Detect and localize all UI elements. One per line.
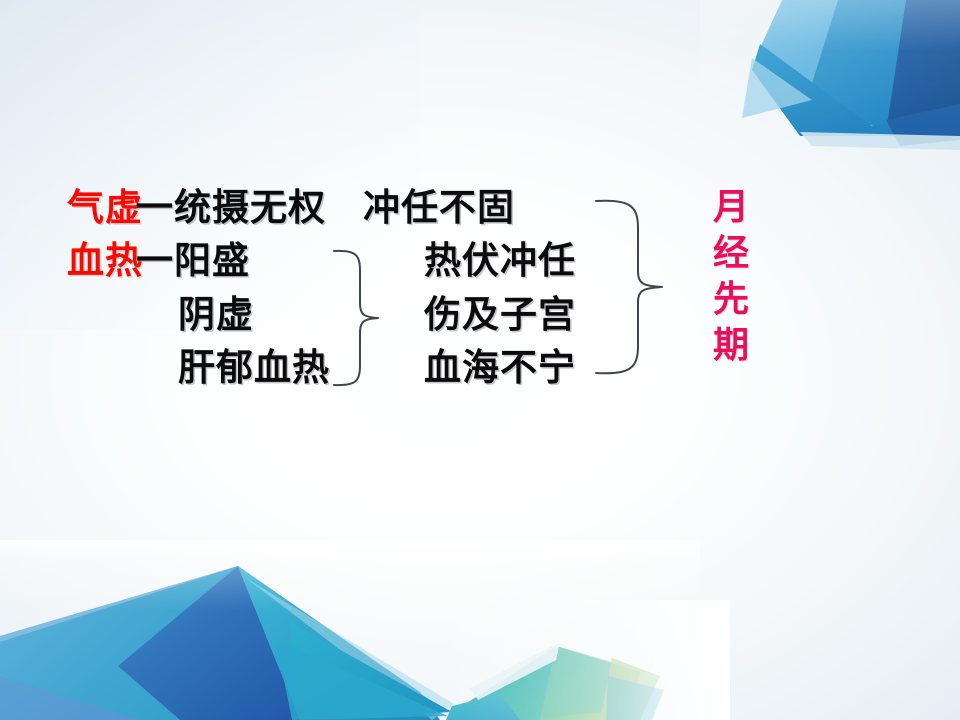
conclusion-char-2: 经 <box>713 235 749 271</box>
dash-2: 一 <box>136 243 174 280</box>
mechanism-3: 阴虚 <box>178 297 254 334</box>
conclusion-char-4: 期 <box>713 327 749 363</box>
result-4: 血海不宁 <box>424 350 576 387</box>
cause-label-1: 气虚 <box>67 190 143 227</box>
mechanism-2: 阳盛 <box>174 243 250 280</box>
mechanism-4: 肝郁血热 <box>178 350 330 387</box>
result-1: 冲任不固 <box>363 190 515 227</box>
slide-canvas: 气虚 一 统摄无权 冲任不固 血热 一 阳盛 热伏冲任 阴虚 伤及子宫 肝郁血热… <box>0 0 960 720</box>
left-curly-brace <box>330 245 400 390</box>
result-3: 伤及子宫 <box>424 297 576 334</box>
dash-1: 一 <box>136 190 174 227</box>
mechanism-1: 统摄无权 <box>174 190 326 227</box>
conclusion-char-1: 月 <box>713 189 749 225</box>
result-2: 热伏冲任 <box>424 243 576 280</box>
conclusion-title: 月 经 先 期 <box>700 189 762 363</box>
right-curly-brace <box>592 196 672 378</box>
cause-label-2: 血热 <box>67 243 143 280</box>
diagram-content: 气虚 一 统摄无权 冲任不固 血热 一 阳盛 热伏冲任 阴虚 伤及子宫 肝郁血热… <box>0 0 960 720</box>
conclusion-char-3: 先 <box>713 281 749 317</box>
